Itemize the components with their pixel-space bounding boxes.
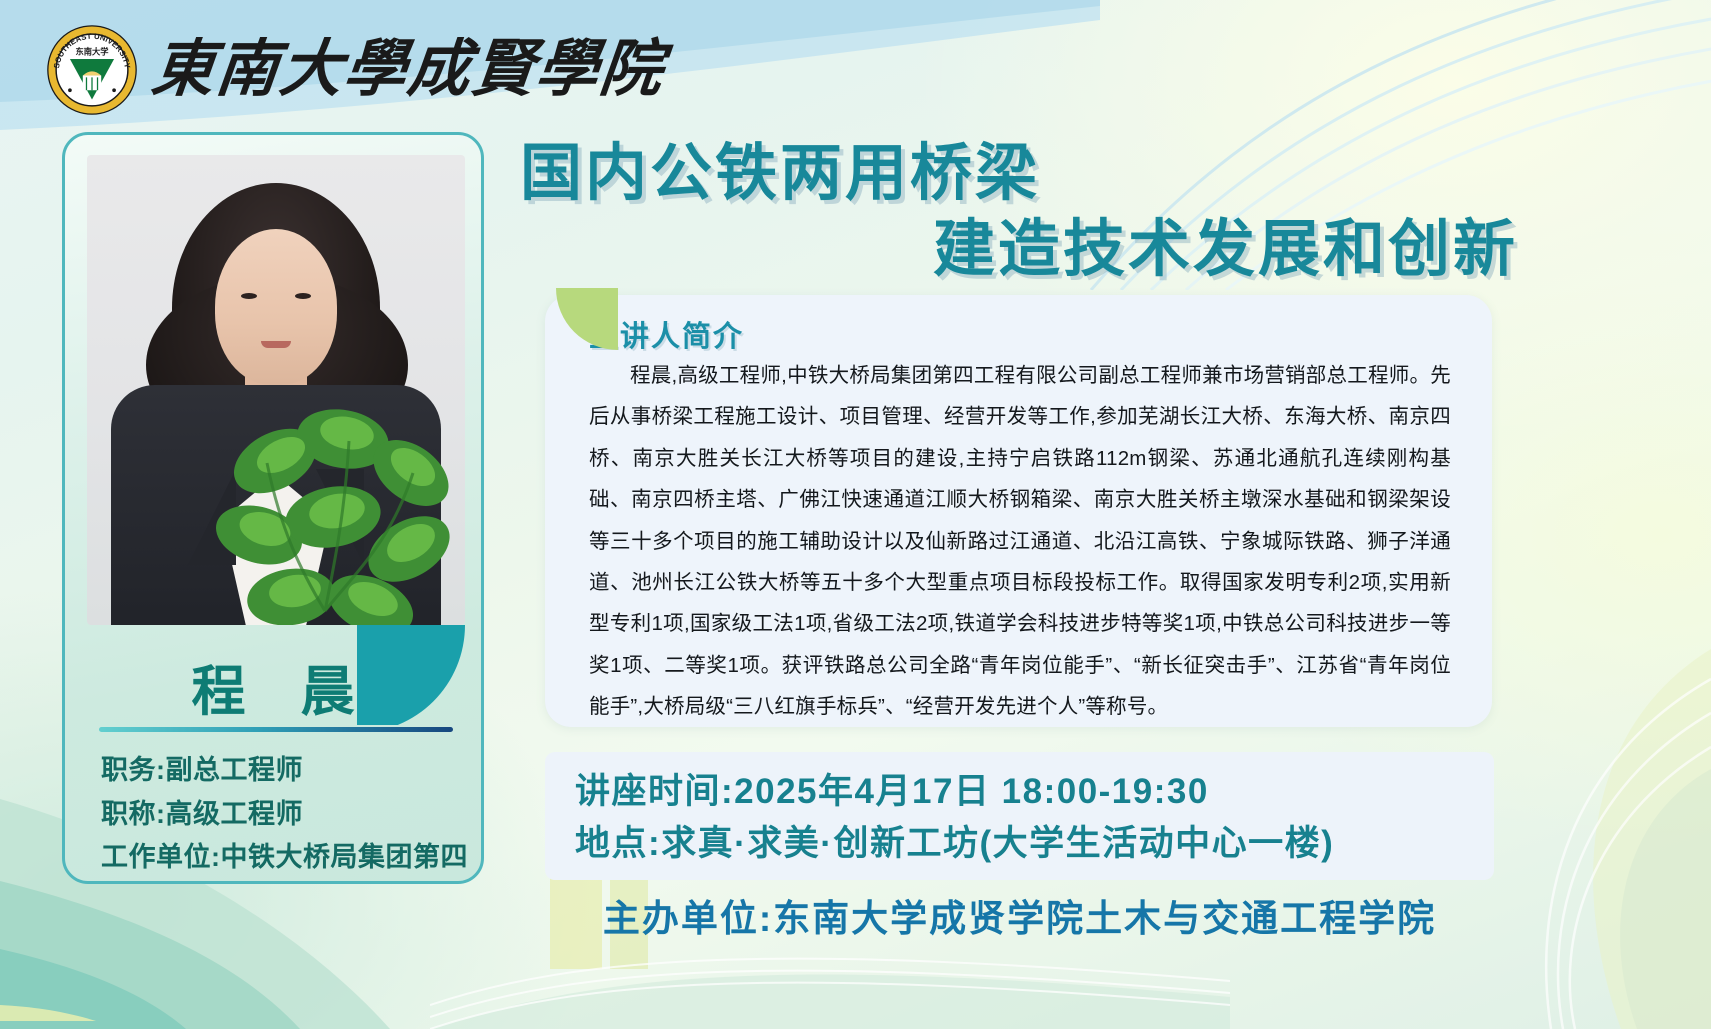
university-name: 東南大學成賢學院 [149,39,668,101]
page-title: 国内公铁两用桥梁 建造技术发展和创新 [520,136,1530,287]
organizer-line: 主办单位:东南大学成贤学院土木与交通工程学院 [545,888,1494,942]
speaker-employer-line1: 工作单位:中铁大桥局集团第四 [101,836,461,880]
event-time: 讲座时间:2025年4月17日 18:00-19:30 [575,766,1334,818]
svg-text:东南大学: 东南大学 [75,46,108,56]
speaker-meta: 职务:副总工程师 职称:高级工程师 工作单位:中铁大桥局集团第四 工程有限公司 [101,749,461,884]
section-heading-speaker-bio: 主讲人简介 [589,313,1451,355]
speaker-position: 职务:副总工程师 [101,749,461,793]
poster-root: SOUTHEAST UNIVERSITY 东南大学 東南大學成賢學院 [0,0,1711,1029]
speaker-bio-text: 程晨,高级工程师,中铁大桥局集团第四工程有限公司副总工程师兼市场营销部总工程师。… [589,355,1451,727]
speaker-photo [87,155,465,625]
speaker-card: 程 晨 职务:副总工程师 职称:高级工程师 工作单位:中铁大桥局集团第四 工程有… [62,132,484,884]
university-seal-icon: SOUTHEAST UNIVERSITY 东南大学 [46,24,138,116]
content-panel: 主讲人简介 程晨,高级工程师,中铁大桥局集团第四工程有限公司副总工程师兼市场营销… [545,295,1492,727]
potted-plant-icon [215,401,455,625]
section-body-speaker-bio: 程晨,高级工程师,中铁大桥局集团第四工程有限公司副总工程师兼市场营销部总工程师。… [589,355,1451,727]
event-place: 地点:求真·求美·创新工坊(大学生活动中心一楼) [575,818,1334,870]
name-divider [99,727,453,732]
portrait-face [215,229,337,385]
event-details-banner: 讲座时间:2025年4月17日 18:00-19:30 地点:求真·求美·创新工… [545,752,1494,880]
speaker-employer-line2: 工程有限公司 [101,880,461,884]
speaker-rank: 职称:高级工程师 [101,793,461,837]
event-details-text: 讲座时间:2025年4月17日 18:00-19:30 地点:求真·求美·创新工… [575,766,1334,870]
title-line-1: 国内公铁两用桥梁 [520,139,1040,208]
poster-header: SOUTHEAST UNIVERSITY 东南大学 東南大學成賢學院 [46,24,664,116]
title-line-2: 建造技术发展和创新 [520,212,1530,288]
